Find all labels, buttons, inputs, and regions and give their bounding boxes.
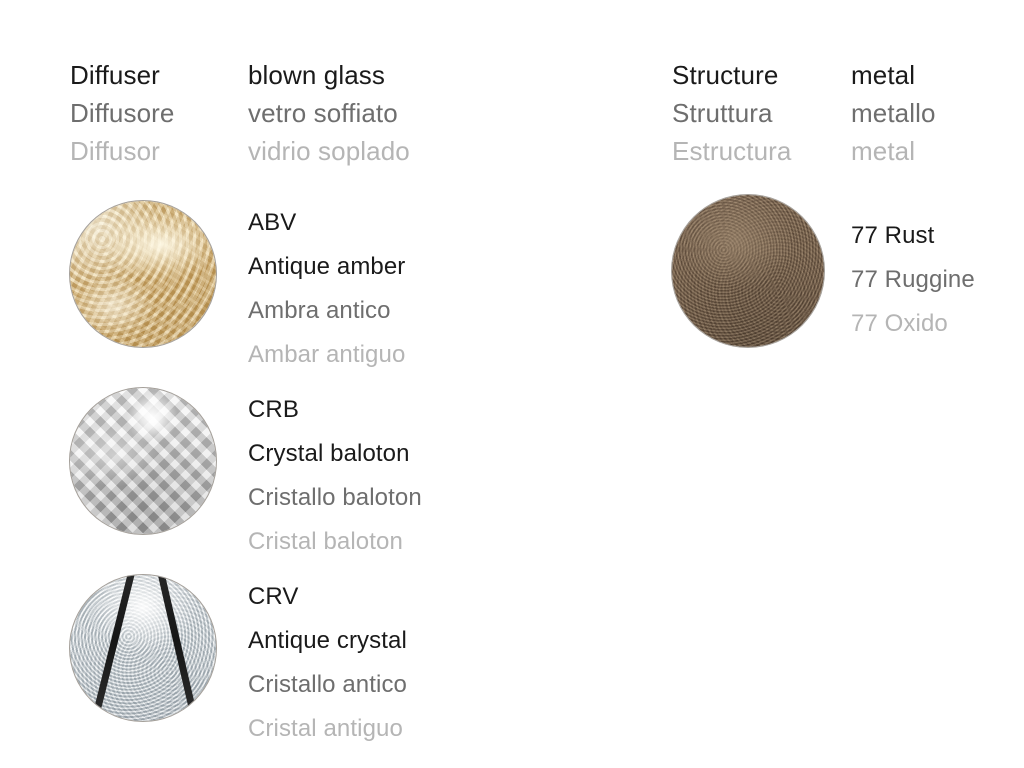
abv-label-block: ABV Antique amber Ambra antico Ambar ant…	[248, 201, 405, 377]
abv-name-it: Ambra antico	[248, 289, 405, 333]
structure-material-en: metal	[851, 56, 936, 94]
crv-name-en: Antique crystal	[248, 619, 407, 663]
diffuser-category-it: Diffusore	[70, 94, 174, 132]
rust-77-name-it: 77 Ruggine	[851, 258, 975, 302]
abv-antique-amber-swatch[interactable]	[70, 201, 216, 347]
rust-77-label-block: 77 Rust 77 Ruggine 77 Oxido	[851, 214, 975, 346]
crv-code: CRV	[248, 575, 407, 619]
crv-antique-crystal-swatch[interactable]	[70, 575, 216, 721]
crv-label-block: CRV Antique crystal Cristallo antico Cri…	[248, 575, 407, 751]
rust-77-name-es: 77 Oxido	[851, 302, 975, 346]
crb-name-es: Cristal baloton	[248, 520, 422, 564]
diffuser-material-header: blown glass vetro soffiato vidrio soplad…	[248, 56, 410, 170]
structure-material-it: metallo	[851, 94, 936, 132]
crv-vein-right-icon	[155, 575, 203, 721]
structure-material-es: metal	[851, 132, 936, 170]
rust-77-swatch[interactable]	[672, 195, 824, 347]
diffuser-material-it: vetro soffiato	[248, 94, 410, 132]
diffuser-category-en: Diffuser	[70, 56, 174, 94]
structure-category-en: Structure	[672, 56, 792, 94]
diffuser-material-en: blown glass	[248, 56, 410, 94]
structure-category-header: Structure Struttura Estructura	[672, 56, 792, 170]
abv-texture	[70, 201, 216, 347]
crv-name-es: Cristal antiguo	[248, 707, 407, 751]
crb-crystal-baloton-swatch[interactable]	[70, 388, 216, 534]
crb-name-en: Crystal baloton	[248, 432, 422, 476]
abv-name-es: Ambar antiguo	[248, 333, 405, 377]
structure-category-es: Estructura	[672, 132, 792, 170]
crv-vein-left-icon	[87, 575, 138, 721]
crv-texture	[70, 575, 216, 721]
abv-name-en: Antique amber	[248, 245, 405, 289]
finish-specification-sheet: Diffuser Diffusore Diffusor blown glass …	[0, 0, 1024, 768]
structure-material-header: metal metallo metal	[851, 56, 936, 170]
rust-77-texture	[672, 195, 824, 347]
rust-77-name-en: 77 Rust	[851, 214, 975, 258]
diffuser-category-header: Diffuser Diffusore Diffusor	[70, 56, 174, 170]
crb-code: CRB	[248, 388, 422, 432]
crb-texture	[70, 388, 216, 534]
crv-name-it: Cristallo antico	[248, 663, 407, 707]
structure-category-it: Struttura	[672, 94, 792, 132]
diffuser-category-es: Diffusor	[70, 132, 174, 170]
abv-code: ABV	[248, 201, 405, 245]
crb-name-it: Cristallo baloton	[248, 476, 422, 520]
crb-label-block: CRB Crystal baloton Cristallo baloton Cr…	[248, 388, 422, 564]
diffuser-material-es: vidrio soplado	[248, 132, 410, 170]
